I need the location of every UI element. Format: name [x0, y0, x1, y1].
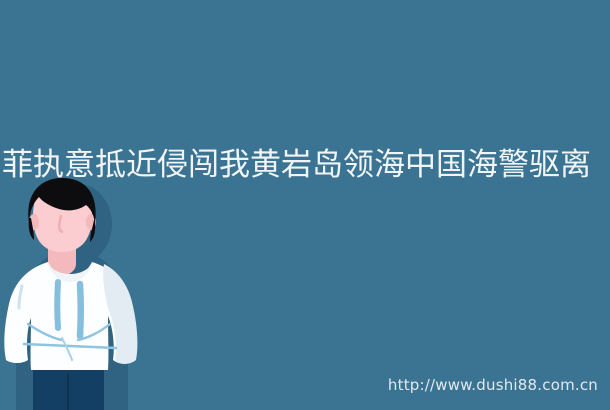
source-watermark: http://www.dushi88.com.cn	[388, 376, 598, 394]
person-illustration	[0, 178, 150, 410]
news-banner-image: 菲执意抵近侵闯我黄岩岛领海中国海警驱离 http://www.dushi88.c…	[0, 0, 610, 410]
drawstring-right	[80, 284, 81, 336]
drawstring-left	[57, 282, 58, 328]
person-illustration-svg	[0, 178, 150, 410]
page-title: 菲执意抵近侵闯我黄岩岛领海中国海警驱离	[2, 146, 610, 184]
